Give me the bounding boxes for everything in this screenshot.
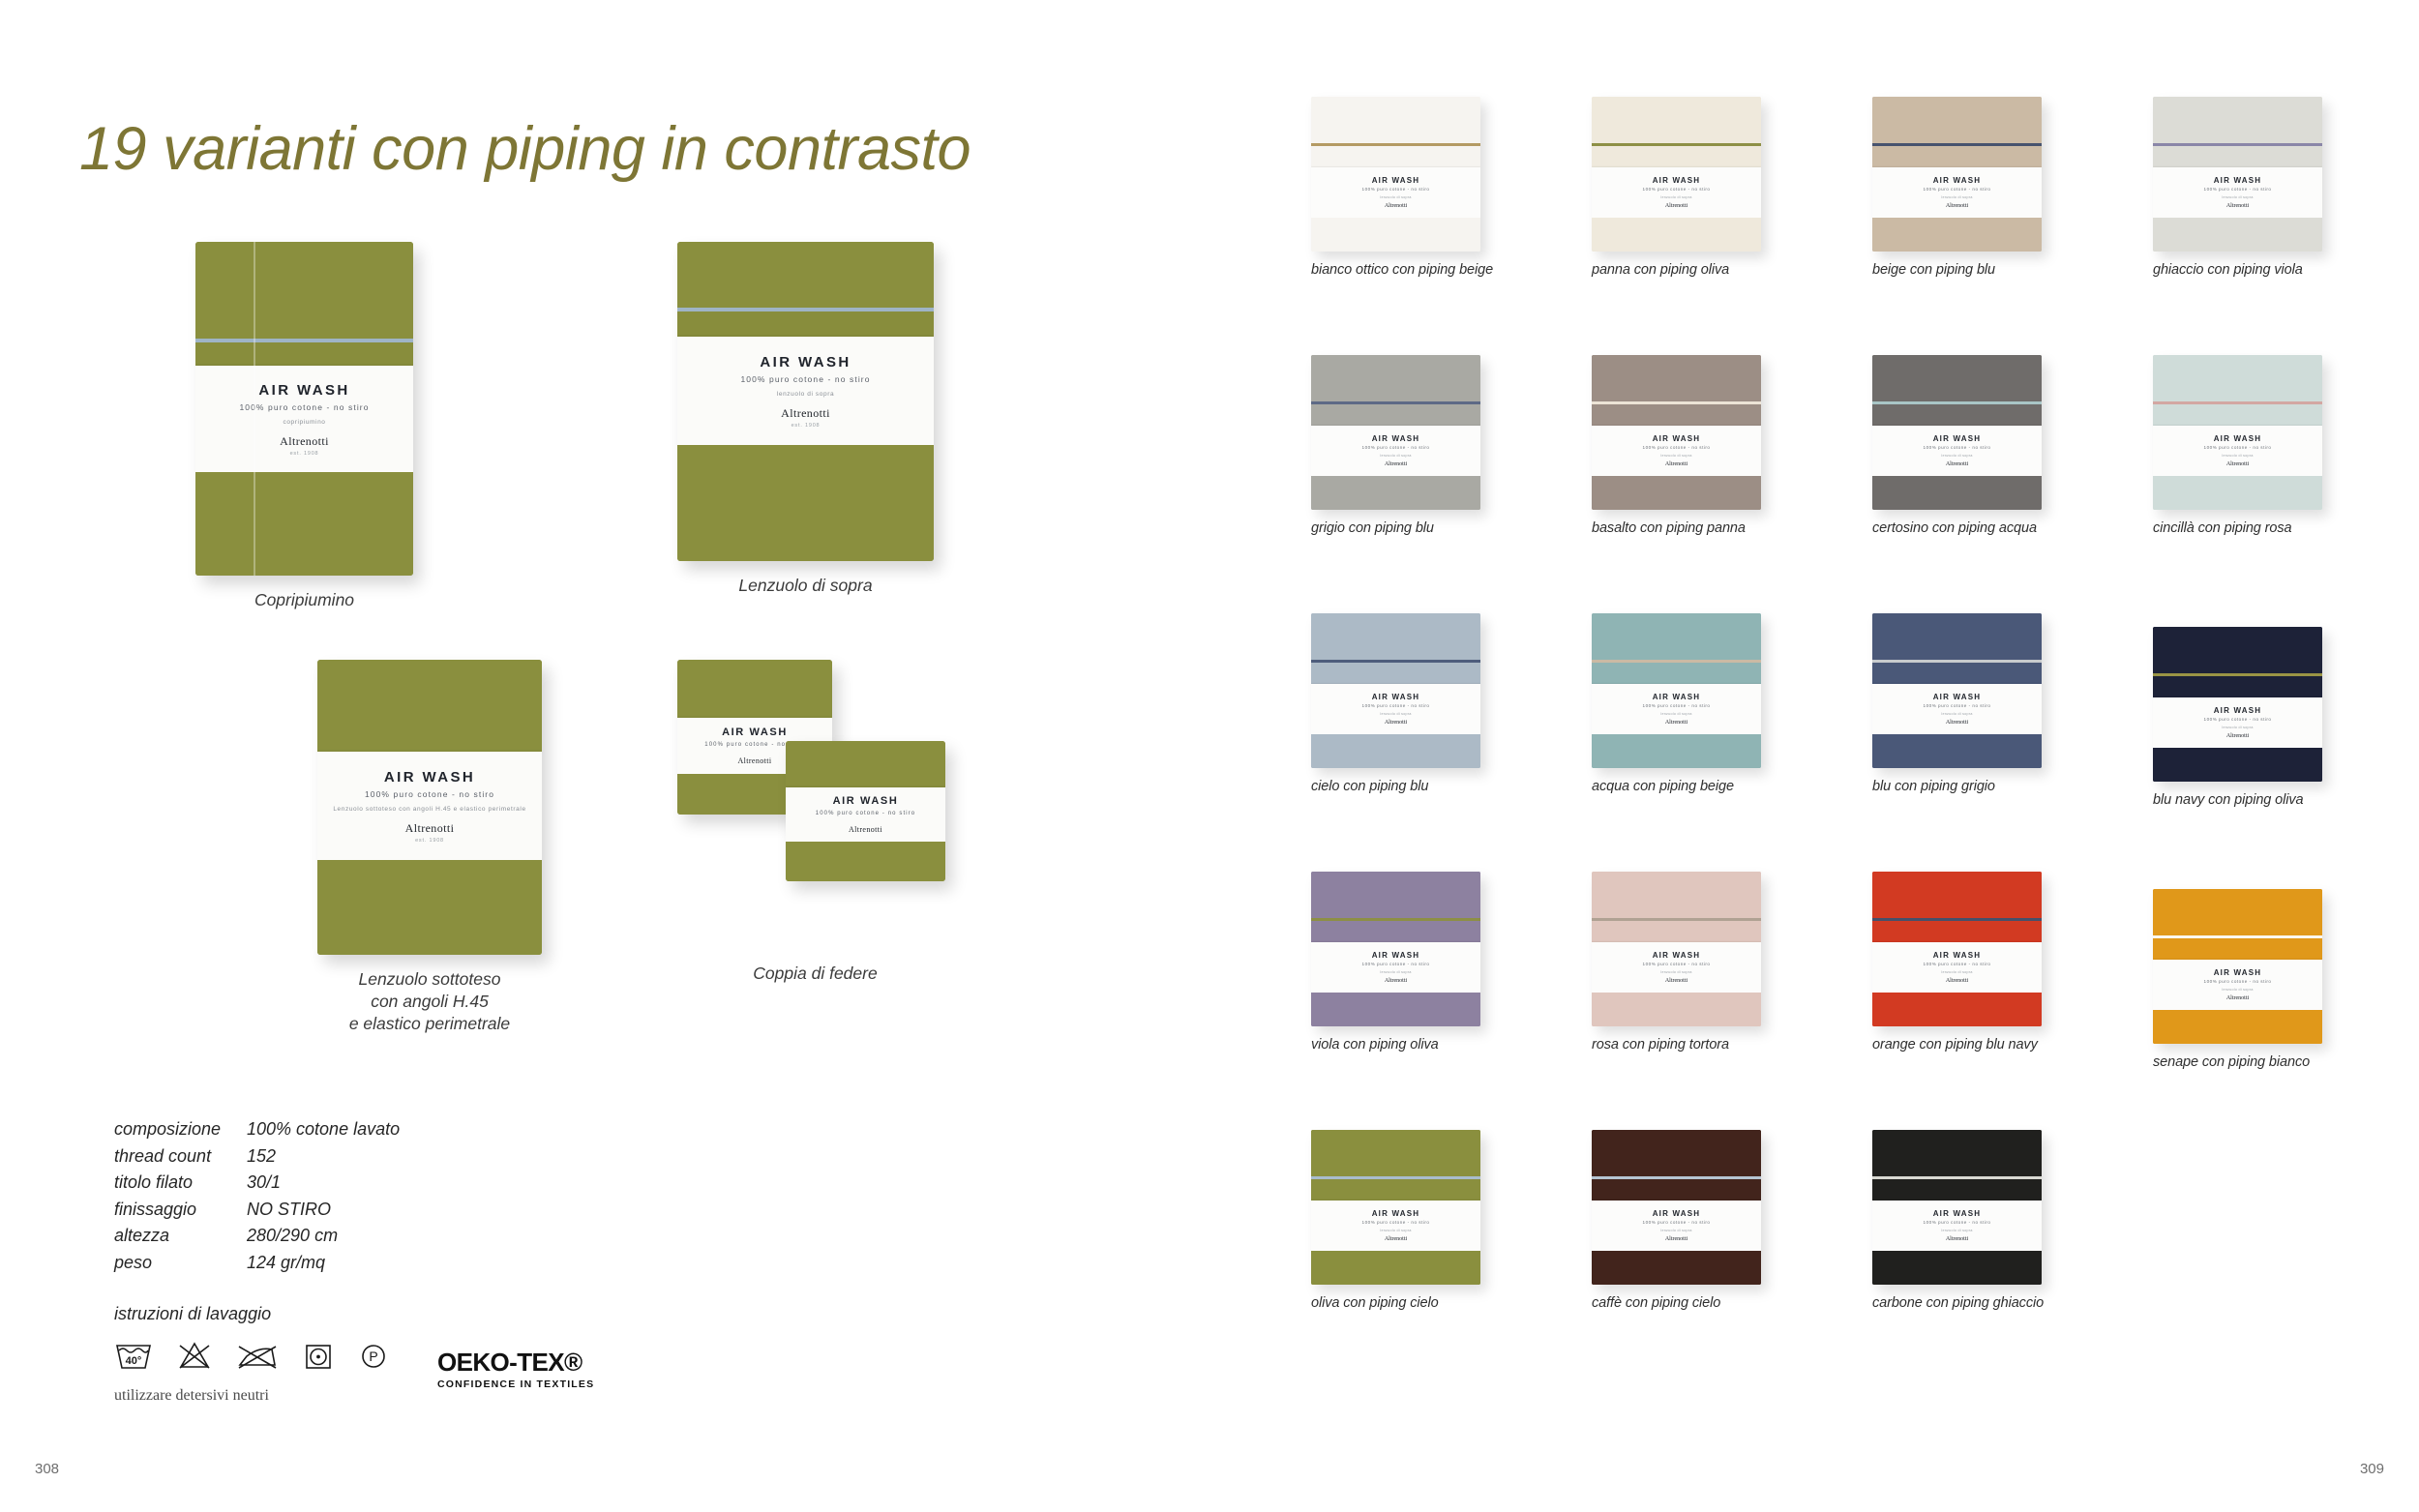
- fabric-bottom: [1592, 218, 1761, 252]
- band-brand: Altrenotti: [1385, 461, 1407, 467]
- fabric-bottom: [1872, 218, 2042, 252]
- product-photo: AIR WASH 100% puro cotone - no stiro cop…: [195, 242, 413, 576]
- band-brand: Altrenotti: [280, 434, 329, 449]
- band-product: lenzuolo di sopra: [1660, 454, 1691, 458]
- band-subtitle: 100% puro cotone - no stiro: [1362, 187, 1430, 192]
- swatch-row: AIR WASH100% puro cotone - no stirolenzu…: [1311, 97, 2385, 355]
- band-subtitle: 100% puro cotone - no stiro: [1643, 187, 1711, 192]
- air-wash-band: AIR WASH100% puro cotone - no stirolenzu…: [2153, 960, 2322, 1010]
- color-variant-cell[interactable]: AIR WASH100% puro cotone - no stirolenzu…: [2153, 889, 2322, 1070]
- band-subtitle: 100% puro cotone - no stiro: [1924, 962, 1991, 966]
- band-product: lenzuolo di sopra: [1380, 454, 1411, 458]
- band-brand: Altrenotti: [1946, 461, 1968, 467]
- band-est: est. 1908: [415, 838, 444, 844]
- fabric-bottom: [1592, 734, 1761, 768]
- fabric-bottom: [2153, 1010, 2322, 1044]
- band-product: lenzuolo di sopra: [1660, 195, 1691, 199]
- fabric-bottom: [317, 860, 542, 955]
- air-wash-band: AIR WASH100% puro cotone - no stirolenzu…: [1311, 167, 1480, 218]
- table-row: thread count 152: [114, 1143, 530, 1171]
- color-variant-label: viola con piping oliva: [1311, 1037, 1480, 1052]
- fabric-top: [1592, 613, 1761, 660]
- band-brand: Altrenotti: [1946, 978, 1968, 984]
- band-product: lenzuolo di sopra: [1380, 970, 1411, 974]
- color-variant-cell[interactable]: AIR WASH100% puro cotone - no stirolenzu…: [2153, 355, 2322, 536]
- band-title: AIR WASH: [2214, 434, 2262, 443]
- spec-value: 124 gr/mq: [247, 1250, 530, 1277]
- product-photo: AIR WASH 100% puro cotone - no stiro len…: [677, 242, 934, 561]
- fabric-bottom: [2153, 218, 2322, 252]
- product-caption: Coppia di federe: [677, 963, 953, 985]
- fabric-mid: [1311, 146, 1480, 167]
- band-title: AIR WASH: [2214, 176, 2262, 185]
- air-wash-band: AIR WASH100% puro cotone - no stirolenzu…: [1311, 942, 1480, 993]
- spec-key: composizione: [114, 1116, 247, 1143]
- fabric-swatch: AIR WASH100% puro cotone - no stirolenzu…: [1311, 872, 1480, 1026]
- fabric-bottom: [1311, 1251, 1480, 1285]
- fabric-top: [1872, 872, 2042, 918]
- color-variant-label: grigio con piping blu: [1311, 520, 1480, 536]
- product-caption: Lenzuolo di sopra: [677, 575, 934, 597]
- color-variant-label: carbone con piping ghiaccio: [1872, 1295, 2042, 1311]
- color-variant-cell[interactable]: AIR WASH100% puro cotone - no stirolenzu…: [1592, 355, 1761, 536]
- band-brand: Altrenotti: [781, 406, 830, 421]
- band-title: AIR WASH: [1933, 951, 1982, 960]
- fabric-bottom: [1311, 993, 1480, 1026]
- fabric-top: [1311, 355, 1480, 401]
- fabric-swatch: AIR WASH100% puro cotone - no stirolenzu…: [1592, 872, 1761, 1026]
- band-brand: Altrenotti: [1385, 720, 1407, 726]
- color-variant-label: orange con piping blu navy: [1872, 1037, 2042, 1052]
- band-title: AIR WASH: [1653, 693, 1701, 701]
- color-variant-label: rosa con piping tortora: [1592, 1037, 1761, 1052]
- air-wash-band: AIR WASH100% puro cotone - no stirolenzu…: [2153, 426, 2322, 476]
- color-variant-cell[interactable]: AIR WASH100% puro cotone - no stirolenzu…: [1592, 1130, 1761, 1311]
- pillowcase-front: AIR WASH 100% puro cotone - no stiro Alt…: [786, 741, 945, 881]
- fabric-swatch: AIR WASH100% puro cotone - no stirolenzu…: [1872, 872, 2042, 1026]
- air-wash-band: AIR WASH 100% puro cotone - no stiro cop…: [195, 366, 413, 472]
- band-title: AIR WASH: [1933, 693, 1982, 701]
- spec-key: peso: [114, 1250, 247, 1277]
- fabric-top: [677, 242, 934, 308]
- band-brand: Altrenotti: [405, 821, 455, 836]
- color-variant-cell[interactable]: AIR WASH100% puro cotone - no stirolenzu…: [1311, 97, 1480, 278]
- page-number-right: 309: [2360, 1461, 2384, 1477]
- no-iron-icon: [236, 1340, 279, 1371]
- band-brand: Altrenotti: [1946, 203, 1968, 209]
- fabric-top: [195, 242, 413, 339]
- spec-key: thread count: [114, 1143, 247, 1171]
- air-wash-band: AIR WASH100% puro cotone - no stirolenzu…: [1592, 1201, 1761, 1251]
- air-wash-band: AIR WASH 100% puro cotone - no stiro Alt…: [786, 787, 945, 842]
- air-wash-band: AIR WASH100% puro cotone - no stirolenzu…: [1311, 426, 1480, 476]
- band-product: lenzuolo di sopra: [1941, 195, 1972, 199]
- band-est: est. 1908: [791, 423, 821, 429]
- band-brand: Altrenotti: [2226, 203, 2249, 209]
- air-wash-band: AIR WASH 100% puro cotone - no stiro Len…: [317, 752, 542, 860]
- fabric-bottom: [2153, 748, 2322, 782]
- band-brand: Altrenotti: [1665, 978, 1687, 984]
- no-bleach-icon: [177, 1340, 212, 1371]
- product-photo: AIR WASH 100% puro cotone - no stiro Len…: [317, 660, 542, 955]
- band-product: lenzuolo di sopra: [1941, 712, 1972, 716]
- color-variant-cell[interactable]: AIR WASH100% puro cotone - no stirolenzu…: [1311, 1130, 1480, 1311]
- color-variant-cell[interactable]: AIR WASH100% puro cotone - no stirolenzu…: [1872, 97, 2042, 278]
- fabric-mid: [1592, 921, 1761, 942]
- fabric-mid: [1872, 1179, 2042, 1201]
- fabric-top: [2153, 627, 2322, 673]
- air-wash-band: AIR WASH100% puro cotone - no stirolenzu…: [1592, 167, 1761, 218]
- fabric-swatch: AIR WASH100% puro cotone - no stirolenzu…: [1592, 613, 1761, 768]
- table-row: titolo filato 30/1: [114, 1170, 530, 1197]
- band-subtitle: 100% puro cotone - no stiro: [816, 811, 915, 816]
- fabric-mid: [2153, 146, 2322, 167]
- product-caption: Lenzuolo sottoteso con angoli H.45 e ela…: [317, 968, 542, 1035]
- wash-40-icon: 40°: [114, 1340, 153, 1371]
- fabric-bottom: [1311, 734, 1480, 768]
- fabric-swatch: AIR WASH100% puro cotone - no stirolenzu…: [1872, 97, 2042, 252]
- fabric-bottom: [1872, 476, 2042, 510]
- band-subtitle: 100% puro cotone - no stiro: [2204, 717, 2272, 722]
- band-subtitle: 100% puro cotone - no stiro: [1362, 445, 1430, 450]
- band-product: lenzuolo di sopra: [2222, 454, 2253, 458]
- band-title: AIR WASH: [2214, 968, 2262, 977]
- air-wash-band: AIR WASH100% puro cotone - no stirolenzu…: [1872, 684, 2042, 734]
- band-subtitle: 100% puro cotone - no stiro: [1362, 1220, 1430, 1225]
- fabric-mid: [2153, 938, 2322, 960]
- fabric-swatch: AIR WASH100% puro cotone - no stirolenzu…: [1592, 355, 1761, 510]
- band-subtitle: 100% puro cotone - no stiro: [2204, 979, 2272, 984]
- page-number-left: 308: [35, 1461, 59, 1477]
- band-subtitle: 100% puro cotone - no stiro: [2204, 187, 2272, 192]
- band-brand: Altrenotti: [849, 825, 882, 834]
- fabric-bottom: [677, 445, 934, 561]
- band-subtitle: 100% puro cotone - no stiro: [365, 789, 494, 799]
- band-title: AIR WASH: [722, 726, 788, 738]
- fabric-top: [1592, 1130, 1761, 1176]
- color-variant-label: basalto con piping panna: [1592, 520, 1761, 536]
- svg-text:P: P: [369, 1349, 377, 1364]
- band-subtitle: 100% puro cotone - no stiro: [239, 402, 369, 412]
- fabric-top: [1311, 613, 1480, 660]
- air-wash-band: AIR WASH100% puro cotone - no stirolenzu…: [1311, 684, 1480, 734]
- band-title: AIR WASH: [1933, 1209, 1982, 1218]
- oeko-tex-tagline: CONFIDENCE IN TEXTILES: [437, 1379, 594, 1390]
- fabric-mid: [1592, 404, 1761, 426]
- band-brand: Altrenotti: [2226, 995, 2249, 1001]
- table-row: finissaggio NO STIRO: [114, 1197, 530, 1224]
- product-copripiumino: AIR WASH 100% puro cotone - no stiro cop…: [195, 242, 413, 611]
- table-row: composizione 100% cotone lavato: [114, 1116, 530, 1143]
- fabric-swatch: AIR WASH100% puro cotone - no stirolenzu…: [1872, 355, 2042, 510]
- fabric-mid: [1592, 1179, 1761, 1201]
- color-variant-cell[interactable]: AIR WASH100% puro cotone - no stirolenzu…: [1872, 872, 2042, 1052]
- color-variant-cell[interactable]: AIR WASH100% puro cotone - no stirolenzu…: [1311, 872, 1480, 1052]
- band-product: lenzuolo di sopra: [1660, 1229, 1691, 1232]
- color-variant-cell[interactable]: AIR WASH100% puro cotone - no stirolenzu…: [2153, 97, 2322, 278]
- band-title: AIR WASH: [2214, 706, 2262, 715]
- color-variant-cell[interactable]: AIR WASH100% puro cotone - no stirolenzu…: [1872, 613, 2042, 794]
- color-variant-cell[interactable]: AIR WASH100% puro cotone - no stirolenzu…: [1311, 355, 1480, 536]
- band-title: AIR WASH: [1653, 951, 1701, 960]
- band-title: AIR WASH: [1933, 176, 1982, 185]
- fabric-mid: [1311, 404, 1480, 426]
- band-est: est. 1908: [290, 451, 319, 457]
- band-brand: Altrenotti: [1665, 720, 1687, 726]
- band-title: AIR WASH: [1372, 434, 1420, 443]
- fabric-mid: [1872, 404, 2042, 426]
- band-subtitle: 100% puro cotone - no stiro: [1362, 962, 1430, 966]
- color-variant-cell[interactable]: AIR WASH100% puro cotone - no stirolenzu…: [1872, 1130, 2042, 1311]
- fabric-mid: [1872, 921, 2042, 942]
- fabric-top: [2153, 97, 2322, 143]
- spec-value: NO STIRO: [247, 1197, 530, 1224]
- fabric-top: [1592, 872, 1761, 918]
- fabric-top: [2153, 889, 2322, 935]
- color-variant-cell[interactable]: AIR WASH100% puro cotone - no stirolenzu…: [1311, 613, 1480, 794]
- fabric-bottom: [1872, 993, 2042, 1026]
- fabric-bottom: [1592, 993, 1761, 1026]
- band-brand: Altrenotti: [1665, 461, 1687, 467]
- band-title: AIR WASH: [1933, 434, 1982, 443]
- fabric-bottom: [2153, 476, 2322, 510]
- color-variant-label: senape con piping bianco: [2153, 1054, 2322, 1070]
- fabric-mid: [2153, 404, 2322, 426]
- specifications-table: composizione 100% cotone lavato thread c…: [114, 1116, 530, 1276]
- band-product: lenzuolo di sopra: [1660, 712, 1691, 716]
- fabric-bottom: [1311, 476, 1480, 510]
- air-wash-band: AIR WASH100% puro cotone - no stirolenzu…: [1592, 426, 1761, 476]
- band-brand: Altrenotti: [1665, 1236, 1687, 1242]
- oeko-tex-name: OEKO-TEX®: [437, 1349, 594, 1375]
- fabric-swatch: AIR WASH100% puro cotone - no stirolenzu…: [2153, 889, 2322, 1044]
- fabric-top: [1872, 355, 2042, 401]
- fabric-bottom: [1872, 1251, 2042, 1285]
- band-product: lenzuolo di sopra: [2222, 195, 2253, 199]
- band-product: lenzuolo di sopra: [1380, 195, 1411, 199]
- band-brand: Altrenotti: [2226, 461, 2249, 467]
- wash-instructions-title: istruzioni di lavaggio: [114, 1304, 271, 1324]
- band-brand: Altrenotti: [737, 756, 771, 765]
- air-wash-band: AIR WASH100% puro cotone - no stirolenzu…: [1872, 167, 2042, 218]
- color-variant-cell[interactable]: AIR WASH100% puro cotone - no stirolenzu…: [1592, 613, 1761, 794]
- band-title: AIR WASH: [760, 354, 851, 371]
- band-brand: Altrenotti: [1385, 978, 1407, 984]
- swatch-row: AIR WASH100% puro cotone - no stirolenzu…: [1311, 613, 2385, 872]
- band-product: lenzuolo di sopra: [1941, 970, 1972, 974]
- care-symbols: 40°: [114, 1340, 389, 1371]
- band-title: AIR WASH: [1372, 693, 1420, 701]
- air-wash-band: AIR WASH100% puro cotone - no stirolenzu…: [1872, 1201, 2042, 1251]
- band-product: Lenzuolo sottoteso con angoli H.45 e ela…: [333, 806, 525, 813]
- color-variant-label: cincillà con piping rosa: [2153, 520, 2322, 536]
- fabric-mid: [1311, 921, 1480, 942]
- band-subtitle: 100% puro cotone - no stiro: [1924, 1220, 1991, 1225]
- fabric-swatch: AIR WASH100% puro cotone - no stirolenzu…: [1872, 1130, 2042, 1285]
- page-title: 19 varianti con piping in contrasto: [79, 114, 971, 184]
- band-product: lenzuolo di sopra: [1660, 970, 1691, 974]
- fabric-bottom: [195, 472, 413, 576]
- fabric-swatch: AIR WASH100% puro cotone - no stirolenzu…: [1872, 613, 2042, 768]
- color-variant-label: blu navy con piping oliva: [2153, 792, 2322, 808]
- band-brand: Altrenotti: [1946, 1236, 1968, 1242]
- fabric-bottom: [1592, 1251, 1761, 1285]
- band-product: lenzuolo di sopra: [2222, 988, 2253, 992]
- band-subtitle: 100% puro cotone - no stiro: [740, 374, 870, 384]
- air-wash-band: AIR WASH100% puro cotone - no stirolenzu…: [1872, 942, 2042, 993]
- product-photo: AIR WASH 100% puro cotone - no stiro Alt…: [677, 660, 953, 955]
- band-subtitle: 100% puro cotone - no stiro: [1643, 962, 1711, 966]
- spec-key: finissaggio: [114, 1197, 247, 1224]
- fabric-bottom: [1872, 734, 2042, 768]
- color-variant-cell[interactable]: AIR WASH100% puro cotone - no stirolenzu…: [1592, 97, 1761, 278]
- band-title: AIR WASH: [1653, 1209, 1701, 1218]
- band-brand: Altrenotti: [2226, 733, 2249, 739]
- spec-value: 30/1: [247, 1170, 530, 1197]
- color-variant-label: acqua con piping beige: [1592, 779, 1761, 794]
- color-variant-label: panna con piping oliva: [1592, 262, 1761, 278]
- band-product: copripiumino: [283, 419, 325, 426]
- fabric-mid: [1311, 1179, 1480, 1201]
- fabric-mid: [1592, 146, 1761, 167]
- fabric-bottom: [786, 842, 945, 881]
- fabric-swatch: AIR WASH100% puro cotone - no stirolenzu…: [1311, 355, 1480, 510]
- swatch-row: AIR WASH100% puro cotone - no stirolenzu…: [1311, 1130, 2385, 1388]
- band-product: lenzuolo di sopra: [1941, 1229, 1972, 1232]
- oeko-tex-logo: OEKO-TEX® CONFIDENCE IN TEXTILES: [437, 1349, 594, 1390]
- fabric-top: [1872, 1130, 2042, 1176]
- band-subtitle: 100% puro cotone - no stiro: [2204, 445, 2272, 450]
- band-product: lenzuolo di sopra: [1380, 712, 1411, 716]
- air-wash-band: AIR WASH100% puro cotone - no stirolenzu…: [1592, 684, 1761, 734]
- fabric-swatch: AIR WASH100% puro cotone - no stirolenzu…: [1592, 97, 1761, 252]
- catalog-spread: 19 varianti con piping in contrasto AIR …: [0, 0, 2419, 1512]
- band-subtitle: 100% puro cotone - no stiro: [1643, 703, 1711, 708]
- fabric-top: [1311, 1130, 1480, 1176]
- fabric-mid: [1872, 663, 2042, 684]
- table-row: peso 124 gr/mq: [114, 1250, 530, 1277]
- band-title: AIR WASH: [1372, 176, 1420, 185]
- fabric-top: [1592, 355, 1761, 401]
- fabric-swatch: AIR WASH100% puro cotone - no stirolenzu…: [1311, 1130, 1480, 1285]
- band-subtitle: 100% puro cotone - no stiro: [1924, 445, 1991, 450]
- spec-value: 152: [247, 1143, 530, 1171]
- color-variant-cell[interactable]: AIR WASH100% puro cotone - no stirolenzu…: [2153, 627, 2322, 808]
- product-coppia-di-federe: AIR WASH 100% puro cotone - no stiro Alt…: [677, 660, 953, 985]
- fabric-top: [677, 660, 832, 718]
- fabric-swatch: AIR WASH100% puro cotone - no stirolenzu…: [1592, 1130, 1761, 1285]
- spec-key: titolo filato: [114, 1170, 247, 1197]
- band-brand: Altrenotti: [1385, 1236, 1407, 1242]
- fabric-top: [1872, 97, 2042, 143]
- band-product: lenzuolo di sopra: [2222, 726, 2253, 729]
- band-subtitle: 100% puro cotone - no stiro: [1924, 703, 1991, 708]
- swatch-row: AIR WASH100% puro cotone - no stirolenzu…: [1311, 872, 2385, 1130]
- fabric-mid: [1311, 663, 1480, 684]
- band-product: lenzuolo di sopra: [1941, 454, 1972, 458]
- air-wash-band: AIR WASH100% puro cotone - no stirolenzu…: [1872, 426, 2042, 476]
- fabric-top: [1311, 872, 1480, 918]
- fabric-top: [2153, 355, 2322, 401]
- color-variant-label: cielo con piping blu: [1311, 779, 1480, 794]
- spec-value: 100% cotone lavato: [247, 1116, 530, 1143]
- svg-text:40°: 40°: [126, 1355, 142, 1367]
- fabric-mid: [2153, 676, 2322, 697]
- tumble-dry-low-icon: [303, 1340, 334, 1371]
- left-page: 19 varianti con piping in contrasto AIR …: [0, 0, 1209, 1512]
- air-wash-band: AIR WASH100% puro cotone - no stirolenzu…: [2153, 167, 2322, 218]
- color-variant-label: blu con piping grigio: [1872, 779, 2042, 794]
- spec-key: altezza: [114, 1223, 247, 1250]
- fabric-swatch: AIR WASH100% puro cotone - no stirolenzu…: [1311, 613, 1480, 768]
- band-subtitle: 100% puro cotone - no stiro: [1643, 445, 1711, 450]
- band-brand: Altrenotti: [1665, 203, 1687, 209]
- fabric-bottom: [1311, 218, 1480, 252]
- fabric-swatch: AIR WASH100% puro cotone - no stirolenzu…: [2153, 355, 2322, 510]
- fabric-top: [1872, 613, 2042, 660]
- color-variant-label: bianco ottico con piping beige: [1311, 262, 1480, 278]
- color-variant-label: beige con piping blu: [1872, 262, 2042, 278]
- band-subtitle: 100% puro cotone - no stiro: [1362, 703, 1430, 708]
- color-variant-label: oliva con piping cielo: [1311, 1295, 1480, 1311]
- fabric-swatch: AIR WASH100% puro cotone - no stirolenzu…: [1311, 97, 1480, 252]
- band-subtitle: 100% puro cotone - no stiro: [1643, 1220, 1711, 1225]
- band-title: AIR WASH: [1653, 434, 1701, 443]
- band-product: lenzuolo di sopra: [777, 391, 834, 398]
- band-title: AIR WASH: [1372, 1209, 1420, 1218]
- table-row: altezza 280/290 cm: [114, 1223, 530, 1250]
- color-variant-label: caffè con piping cielo: [1592, 1295, 1761, 1311]
- air-wash-band: AIR WASH 100% puro cotone - no stiro len…: [677, 337, 934, 445]
- product-lenzuolo-di-sopra: AIR WASH 100% puro cotone - no stiro len…: [677, 242, 934, 597]
- color-variant-grid: AIR WASH100% puro cotone - no stirolenzu…: [1311, 97, 2385, 1388]
- fabric-mid: [1872, 146, 2042, 167]
- air-wash-band: AIR WASH100% puro cotone - no stirolenzu…: [2153, 697, 2322, 748]
- color-variant-label: certosino con piping acqua: [1872, 520, 2042, 536]
- air-wash-band: AIR WASH100% puro cotone - no stirolenzu…: [1592, 942, 1761, 993]
- fabric-top: [317, 660, 542, 752]
- band-brand: Altrenotti: [1946, 720, 1968, 726]
- band-title: AIR WASH: [833, 795, 899, 807]
- band-product: lenzuolo di sopra: [1380, 1229, 1411, 1232]
- fabric-top: [1592, 97, 1761, 143]
- band-title: AIR WASH: [258, 382, 349, 399]
- band-brand: Altrenotti: [1385, 203, 1407, 209]
- product-caption: Copripiumino: [195, 589, 413, 611]
- fabric-top: [1311, 97, 1480, 143]
- wash-note: utilizzare detersivi neutri: [114, 1387, 269, 1405]
- color-variant-label: ghiaccio con piping viola: [2153, 262, 2322, 278]
- swatch-row: AIR WASH100% puro cotone - no stirolenzu…: [1311, 355, 2385, 613]
- air-wash-band: AIR WASH100% puro cotone - no stirolenzu…: [1311, 1201, 1480, 1251]
- fabric-bottom: [1592, 476, 1761, 510]
- spec-value: 280/290 cm: [247, 1223, 530, 1250]
- fabric-swatch: AIR WASH100% puro cotone - no stirolenzu…: [2153, 97, 2322, 252]
- band-subtitle: 100% puro cotone - no stiro: [1924, 187, 1991, 192]
- product-lenzuolo-sottoteso: AIR WASH 100% puro cotone - no stiro Len…: [317, 660, 542, 1035]
- color-variant-cell[interactable]: AIR WASH100% puro cotone - no stirolenzu…: [1872, 355, 2042, 536]
- professional-clean-p-icon: P: [358, 1340, 389, 1371]
- color-variant-cell[interactable]: AIR WASH100% puro cotone - no stirolenzu…: [1592, 872, 1761, 1052]
- fabric-mid: [1592, 663, 1761, 684]
- band-title: AIR WASH: [1372, 951, 1420, 960]
- band-title: AIR WASH: [384, 769, 475, 786]
- fold-crease: [254, 242, 255, 576]
- fabric-top: [786, 741, 945, 787]
- fabric-swatch: AIR WASH100% puro cotone - no stirolenzu…: [2153, 627, 2322, 782]
- band-title: AIR WASH: [1653, 176, 1701, 185]
